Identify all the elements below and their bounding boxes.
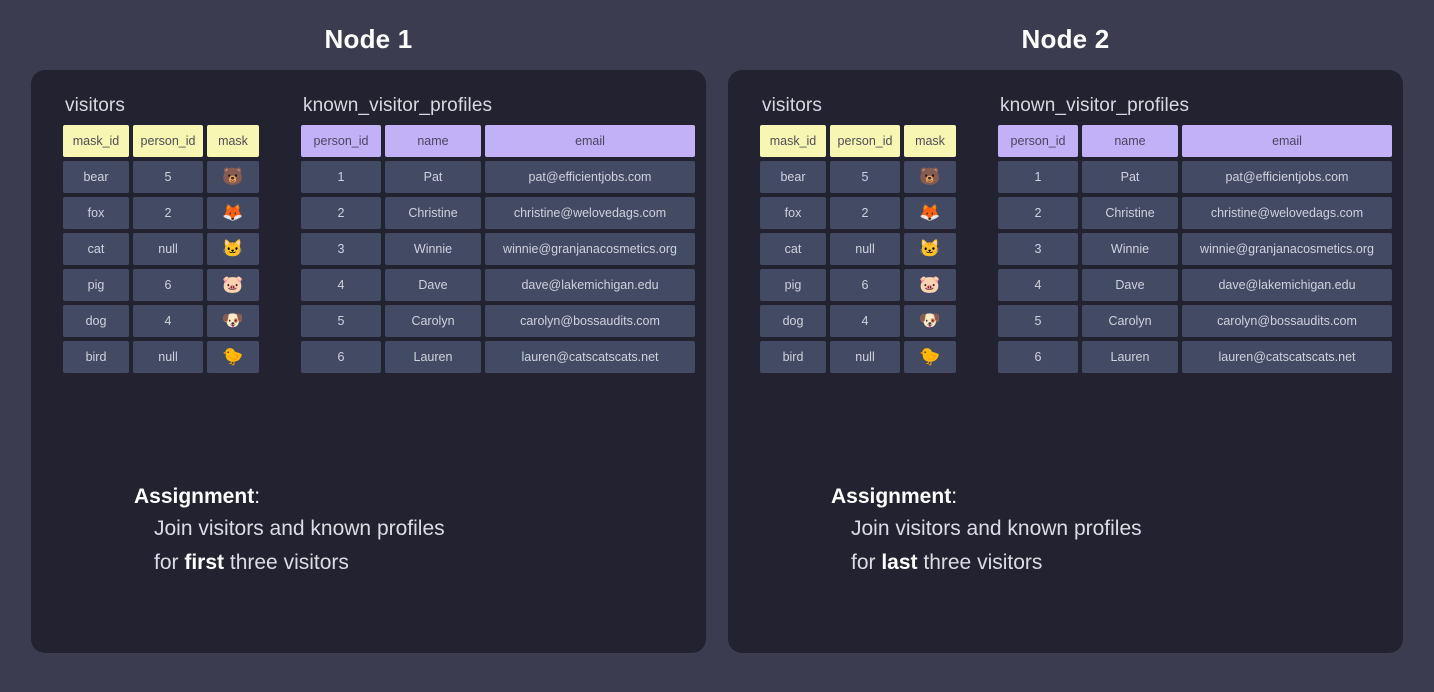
cell-person-id: 4 <box>830 305 900 337</box>
column-header-person-id: person_id <box>830 125 900 157</box>
table-row: bird null 🐤 <box>63 341 259 373</box>
assignment-line2-emphasis: last <box>881 551 917 574</box>
cell-mask-id: dog <box>760 305 826 337</box>
cell-person-id: 2 <box>998 197 1078 229</box>
cell-person-id: 5 <box>301 305 381 337</box>
table-header-row: mask_id person_id mask <box>63 125 259 157</box>
table-row: pig 6 🐷 <box>760 269 956 301</box>
cell-person-id: null <box>133 233 203 265</box>
cell-mask-id: bear <box>63 161 129 193</box>
cell-name: Winnie <box>1082 233 1178 265</box>
assignment-heading-colon: : <box>254 485 260 508</box>
table-row: fox 2 🦊 <box>63 197 259 229</box>
cell-mask-emoji: 🦊 <box>207 197 259 229</box>
cell-mask-emoji: 🦊 <box>904 197 956 229</box>
cell-email: winnie@granjanacosmetics.org <box>485 233 695 265</box>
visitors-grid: mask_id person_id mask bear 5 🐻 fox 2 <box>63 125 259 373</box>
cell-name: Lauren <box>385 341 481 373</box>
cell-mask-id: bird <box>63 341 129 373</box>
cell-name: Lauren <box>1082 341 1178 373</box>
cell-mask-id: fox <box>63 197 129 229</box>
cell-email: lauren@catscatscats.net <box>485 341 695 373</box>
cell-person-id: 6 <box>133 269 203 301</box>
cell-person-id: null <box>133 341 203 373</box>
cell-person-id: 6 <box>830 269 900 301</box>
slide-canvas: Node 1 visitors mask_id person_id mask b… <box>0 0 1434 692</box>
assignment-line-2: for last three visitors <box>851 546 1142 580</box>
table-row: 3 Winnie winnie@granjanacosmetics.org <box>998 233 1392 265</box>
assignment-line2-emphasis: first <box>184 551 224 574</box>
cell-person-id: null <box>830 233 900 265</box>
node-panel-1: Node 1 visitors mask_id person_id mask b… <box>31 0 706 692</box>
table-row: bear 5 🐻 <box>760 161 956 193</box>
profiles-table-label: known_visitor_profiles <box>1000 95 1392 117</box>
cell-email: christine@welovedags.com <box>485 197 695 229</box>
table-row: 4 Dave dave@lakemichigan.edu <box>301 269 695 301</box>
visitors-grid: mask_id person_id mask bear 5 🐻 fox 2 <box>760 125 956 373</box>
cell-mask-emoji: 🐤 <box>904 341 956 373</box>
cell-email: carolyn@bossaudits.com <box>1182 305 1392 337</box>
cell-mask-id: cat <box>760 233 826 265</box>
assignment-block-1: Assignment: Join visitors and known prof… <box>134 482 445 580</box>
cell-person-id: 5 <box>998 305 1078 337</box>
cell-email: dave@lakemichigan.edu <box>485 269 695 301</box>
cell-name: Carolyn <box>385 305 481 337</box>
column-header-email: email <box>1182 125 1392 157</box>
cell-person-id: 6 <box>301 341 381 373</box>
table-row: pig 6 🐷 <box>63 269 259 301</box>
cell-mask-emoji: 🐷 <box>904 269 956 301</box>
assignment-line2-prefix: for <box>154 551 184 574</box>
cell-email: pat@efficientjobs.com <box>1182 161 1392 193</box>
cell-email: christine@welovedags.com <box>1182 197 1392 229</box>
cell-mask-emoji: 🐶 <box>904 305 956 337</box>
column-header-person-id: person_id <box>133 125 203 157</box>
cell-mask-emoji: 🐻 <box>207 161 259 193</box>
cell-mask-id: pig <box>63 269 129 301</box>
column-header-email: email <box>485 125 695 157</box>
cell-mask-id: pig <box>760 269 826 301</box>
cell-person-id: 4 <box>998 269 1078 301</box>
cell-person-id: 5 <box>830 161 900 193</box>
assignment-line-1: Join visitors and known profiles <box>154 512 445 546</box>
column-header-mask: mask <box>904 125 956 157</box>
assignment-heading-text: Assignment <box>134 485 254 508</box>
cell-email: lauren@catscatscats.net <box>1182 341 1392 373</box>
cell-mask-id: bird <box>760 341 826 373</box>
column-header-person-id: person_id <box>301 125 381 157</box>
node-1-card: visitors mask_id person_id mask bear 5 🐻 <box>31 70 706 653</box>
cell-person-id: 2 <box>301 197 381 229</box>
cell-name: Dave <box>1082 269 1178 301</box>
table-row: dog 4 🐶 <box>760 305 956 337</box>
cell-person-id: 5 <box>133 161 203 193</box>
table-row: fox 2 🦊 <box>760 197 956 229</box>
table-row: 1 Pat pat@efficientjobs.com <box>998 161 1392 193</box>
cell-email: dave@lakemichigan.edu <box>1182 269 1392 301</box>
table-row: 5 Carolyn carolyn@bossaudits.com <box>998 305 1392 337</box>
column-header-name: name <box>385 125 481 157</box>
cell-name: Winnie <box>385 233 481 265</box>
column-header-mask-id: mask_id <box>760 125 826 157</box>
cell-mask-emoji: 🐱 <box>904 233 956 265</box>
table-row: dog 4 🐶 <box>63 305 259 337</box>
column-header-mask: mask <box>207 125 259 157</box>
assignment-heading: Assignment: <box>831 482 1142 512</box>
cell-person-id: 4 <box>301 269 381 301</box>
cell-email: carolyn@bossaudits.com <box>485 305 695 337</box>
table-row: bird null 🐤 <box>760 341 956 373</box>
assignment-line-2: for first three visitors <box>154 546 445 580</box>
cell-mask-emoji: 🐷 <box>207 269 259 301</box>
table-row: 3 Winnie winnie@granjanacosmetics.org <box>301 233 695 265</box>
table-header-row: person_id name email <box>301 125 695 157</box>
node-2-tables: visitors mask_id person_id mask bear 5 🐻 <box>760 95 1392 373</box>
assignment-heading-colon: : <box>951 485 957 508</box>
table-header-row: person_id name email <box>998 125 1392 157</box>
table-row: cat null 🐱 <box>63 233 259 265</box>
assignment-line-1: Join visitors and known profiles <box>851 512 1142 546</box>
cell-name: Pat <box>385 161 481 193</box>
cell-person-id: 3 <box>998 233 1078 265</box>
cell-person-id: 6 <box>998 341 1078 373</box>
table-row: 6 Lauren lauren@catscatscats.net <box>301 341 695 373</box>
cell-person-id: 2 <box>133 197 203 229</box>
assignment-line2-prefix: for <box>851 551 881 574</box>
assignment-block-2: Assignment: Join visitors and known prof… <box>831 482 1142 580</box>
cell-mask-id: fox <box>760 197 826 229</box>
table-row: 2 Christine christine@welovedags.com <box>301 197 695 229</box>
cell-mask-id: dog <box>63 305 129 337</box>
profiles-table-label: known_visitor_profiles <box>303 95 695 117</box>
cell-mask-emoji: 🐱 <box>207 233 259 265</box>
cell-person-id: 1 <box>998 161 1078 193</box>
visitors-table-2: visitors mask_id person_id mask bear 5 🐻 <box>760 95 956 373</box>
table-row: cat null 🐱 <box>760 233 956 265</box>
cell-mask-emoji: 🐻 <box>904 161 956 193</box>
cell-person-id: null <box>830 341 900 373</box>
table-row: 4 Dave dave@lakemichigan.edu <box>998 269 1392 301</box>
profiles-grid: person_id name email 1 Pat pat@efficient… <box>301 125 695 373</box>
profiles-grid: person_id name email 1 Pat pat@efficient… <box>998 125 1392 373</box>
node-title-1: Node 1 <box>31 0 706 34</box>
visitors-table-label: visitors <box>65 95 259 117</box>
assignment-heading: Assignment: <box>134 482 445 512</box>
assignment-heading-text: Assignment <box>831 485 951 508</box>
cell-person-id: 2 <box>830 197 900 229</box>
node-panel-2: Node 2 visitors mask_id person_id mask b… <box>728 0 1403 692</box>
assignment-line2-suffix: three visitors <box>918 551 1043 574</box>
table-row: 6 Lauren lauren@catscatscats.net <box>998 341 1392 373</box>
cell-email: pat@efficientjobs.com <box>485 161 695 193</box>
cell-name: Pat <box>1082 161 1178 193</box>
cell-mask-emoji: 🐶 <box>207 305 259 337</box>
column-header-mask-id: mask_id <box>63 125 129 157</box>
node-2-card: visitors mask_id person_id mask bear 5 🐻 <box>728 70 1403 653</box>
node-title-2: Node 2 <box>728 0 1403 34</box>
cell-mask-id: bear <box>760 161 826 193</box>
table-row: bear 5 🐻 <box>63 161 259 193</box>
table-header-row: mask_id person_id mask <box>760 125 956 157</box>
profiles-table-1: known_visitor_profiles person_id name em… <box>301 95 695 373</box>
cell-name: Christine <box>1082 197 1178 229</box>
cell-name: Dave <box>385 269 481 301</box>
visitors-table-label: visitors <box>762 95 956 117</box>
node-1-tables: visitors mask_id person_id mask bear 5 🐻 <box>63 95 695 373</box>
visitors-table-1: visitors mask_id person_id mask bear 5 🐻 <box>63 95 259 373</box>
cell-person-id: 4 <box>133 305 203 337</box>
table-row: 2 Christine christine@welovedags.com <box>998 197 1392 229</box>
cell-mask-emoji: 🐤 <box>207 341 259 373</box>
cell-mask-id: cat <box>63 233 129 265</box>
assignment-line2-suffix: three visitors <box>224 551 349 574</box>
profiles-table-2: known_visitor_profiles person_id name em… <box>998 95 1392 373</box>
table-row: 1 Pat pat@efficientjobs.com <box>301 161 695 193</box>
cell-person-id: 3 <box>301 233 381 265</box>
cell-email: winnie@granjanacosmetics.org <box>1182 233 1392 265</box>
table-row: 5 Carolyn carolyn@bossaudits.com <box>301 305 695 337</box>
cell-name: Christine <box>385 197 481 229</box>
cell-person-id: 1 <box>301 161 381 193</box>
cell-name: Carolyn <box>1082 305 1178 337</box>
column-header-name: name <box>1082 125 1178 157</box>
column-header-person-id: person_id <box>998 125 1078 157</box>
